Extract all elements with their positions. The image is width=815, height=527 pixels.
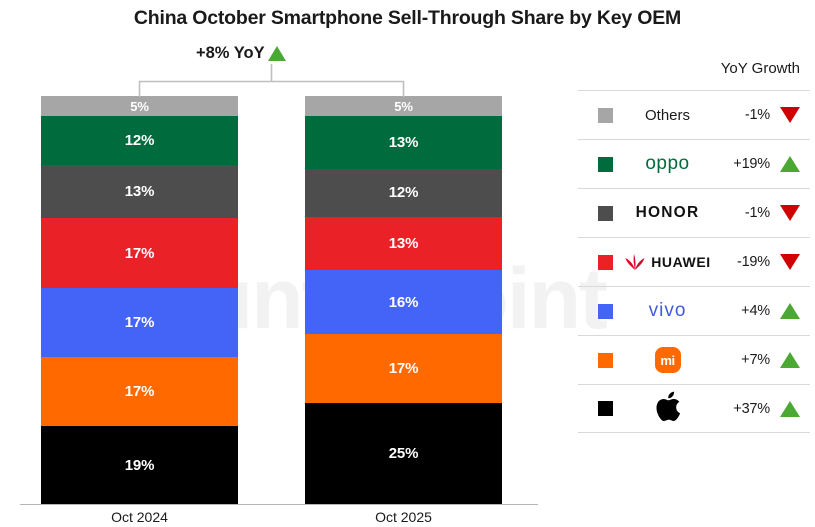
growth-arrow-cell [770, 352, 810, 368]
legend-swatch-honor [598, 206, 613, 221]
growth-value-honor: -1% [722, 205, 770, 221]
brand-logo-oppo: oppo [613, 140, 722, 188]
growth-value-huawei: -19% [722, 254, 770, 270]
legend-row-oppo[interactable]: oppo+19% [578, 139, 810, 188]
growth-value-others: -1% [722, 107, 770, 123]
triangle-up-icon [780, 401, 800, 417]
legend-row-apple[interactable]: +37% [578, 384, 810, 433]
growth-arrow-cell [770, 156, 810, 172]
growth-arrow-cell [770, 254, 810, 270]
brand-logo-apple [613, 385, 722, 432]
legend-row-others[interactable]: Others-1% [578, 90, 810, 139]
triangle-up-icon [780, 352, 800, 368]
legend-row-huawei[interactable]: HUAWEI-19% [578, 237, 810, 286]
growth-arrow-cell [770, 303, 810, 319]
yoy-total-callout: +8% YoY [196, 44, 286, 63]
legend-row-honor[interactable]: HONOR-1% [578, 188, 810, 237]
triangle-down-icon [780, 107, 800, 123]
yoy-total-label: +8% YoY [196, 44, 265, 63]
legend-row-xiaomi[interactable]: mi+7% [578, 335, 810, 384]
growth-arrow-cell [770, 401, 810, 417]
brand-logo-honor: HONOR [613, 189, 722, 237]
legend-row-vivo[interactable]: vivo+4% [578, 286, 810, 335]
brand-logo-huawei: HUAWEI [613, 238, 722, 286]
x-axis-line [20, 504, 538, 505]
triangle-down-icon [780, 205, 800, 221]
huawei-logo-icon: HUAWEI [624, 253, 711, 271]
triangle-up-icon [780, 303, 800, 319]
legend-swatch-huawei [598, 255, 613, 270]
huawei-flower-icon [624, 253, 646, 271]
oppo-logo-icon: oppo [645, 153, 689, 175]
legend-swatch-apple [598, 401, 613, 416]
growth-value-xiaomi: +7% [722, 352, 770, 368]
triangle-down-icon [780, 254, 800, 270]
brand-logo-vivo: vivo [613, 287, 722, 335]
legend-swatch-others [598, 108, 613, 123]
xiaomi-mi-logo-icon: mi [655, 347, 681, 373]
x-axis-label-0: Oct 2024 [41, 509, 238, 525]
growth-value-vivo: +4% [722, 303, 770, 319]
brand-logo-xiaomi: mi [613, 336, 722, 384]
growth-arrow-cell [770, 205, 810, 221]
growth-value-oppo: +19% [722, 156, 770, 172]
triangle-up-icon [268, 46, 286, 61]
legend-swatch-vivo [598, 304, 613, 319]
legend: YoY Growth Others-1%oppo+19%HONOR-1%HUAW… [578, 60, 810, 433]
x-axis-label-1: Oct 2025 [305, 509, 502, 525]
growth-arrow-cell [770, 107, 810, 123]
legend-swatch-oppo [598, 157, 613, 172]
legend-rows: Others-1%oppo+19%HONOR-1%HUAWEI-19%vivo+… [578, 90, 810, 433]
vivo-logo-icon: vivo [649, 300, 687, 322]
brand-label-others: Others [645, 107, 690, 124]
brand-logo-others: Others [613, 91, 722, 139]
apple-logo-icon [655, 391, 681, 427]
page-title: China October Smartphone Sell-Through Sh… [0, 7, 815, 30]
legend-swatch-xiaomi [598, 353, 613, 368]
legend-title: YoY Growth [578, 60, 810, 77]
triangle-up-icon [780, 156, 800, 172]
growth-value-apple: +37% [722, 401, 770, 417]
honor-logo-icon: HONOR [636, 204, 700, 222]
